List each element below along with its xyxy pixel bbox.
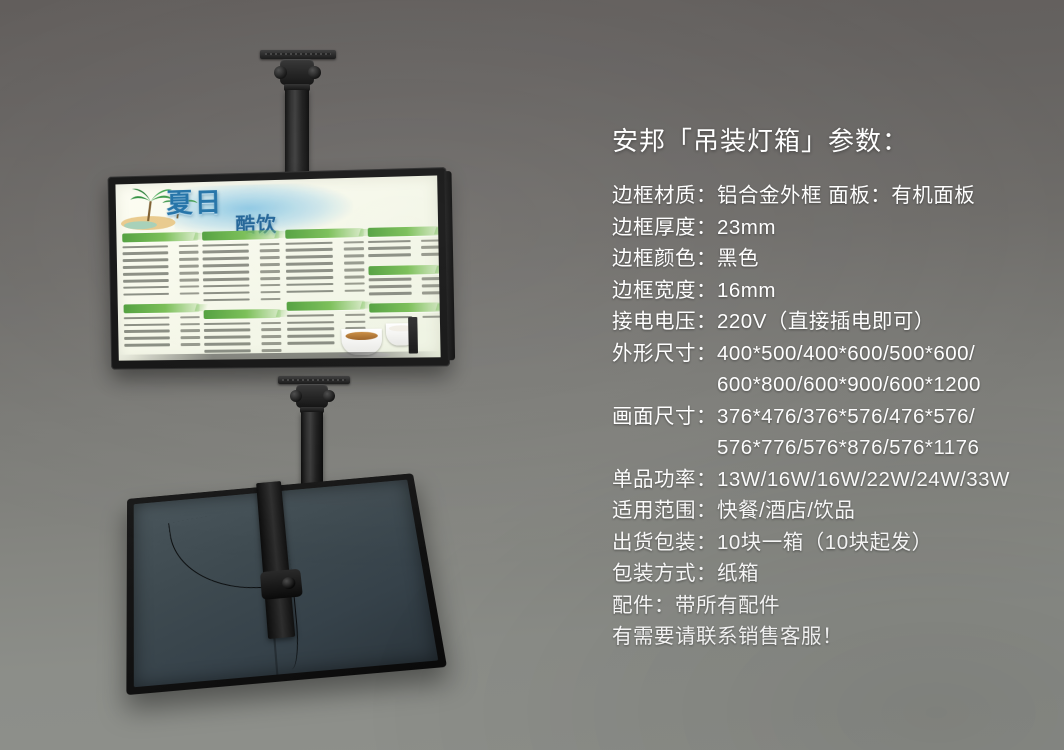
back-panel <box>134 480 439 688</box>
menu-section-header <box>202 230 279 241</box>
adjust-knob-icon <box>323 390 335 402</box>
telescoping-pole-icon <box>285 90 309 176</box>
menu-row <box>286 267 365 274</box>
menu-row <box>203 268 280 275</box>
ceiling-plate-icon <box>278 376 350 384</box>
menu-row <box>286 253 365 260</box>
menu-row <box>123 277 199 284</box>
menu-row <box>286 281 365 288</box>
spec-line-accessories: 配件：带所有配件 <box>612 590 1042 622</box>
menu-row <box>203 262 280 269</box>
menu-row <box>203 296 280 303</box>
menu-row <box>203 282 280 289</box>
swivel-hub-icon <box>260 569 303 600</box>
ceiling-plate-icon <box>260 50 336 59</box>
photo-edge-detail <box>408 317 418 354</box>
spec-line-picture-size-2: 576*776/576*876/576*1176 <box>612 432 1042 464</box>
spec-line-shipping-package: 出货包装：10块一箱（10块起发） <box>612 527 1042 559</box>
menu-row <box>369 290 441 297</box>
menu-board: 夏日 酷饮 <box>115 175 440 360</box>
menu-row <box>123 250 199 257</box>
spec-panel: 安邦「吊装灯箱」参数： 边框材质：铝合金外框 面板：有机面板 边框厚度：23mm… <box>612 124 1042 653</box>
menu-section-header <box>368 226 440 237</box>
spec-line-packing-method: 包装方式：纸箱 <box>612 558 1042 590</box>
menu-row <box>124 321 200 328</box>
spec-line-picture-size: 画面尺寸：376*476/376*576/476*576/ <box>612 401 1042 433</box>
menu-row <box>123 256 199 263</box>
product-photo: 夏日 酷饮 <box>0 0 600 750</box>
menu-row <box>286 274 365 281</box>
spec-line-contact: 有需要请联系销售客服！ <box>612 621 1042 653</box>
adjust-knob-icon <box>290 390 302 402</box>
menu-row <box>368 251 440 258</box>
menu-row <box>124 328 200 335</box>
coffee-beans-image <box>267 302 352 359</box>
menu-lightbox-front: 夏日 酷饮 <box>108 167 450 370</box>
menu-row <box>286 260 365 267</box>
menu-row <box>124 335 200 341</box>
aluminium-frame: 夏日 酷饮 <box>108 167 450 370</box>
menu-row <box>123 263 199 270</box>
menu-section-header <box>124 303 200 313</box>
menu-row <box>203 255 280 262</box>
coffee-photo <box>267 300 441 359</box>
menu-title-main: 夏日 <box>166 187 223 218</box>
spec-line-frame-material: 边框材质：铝合金外框 面板：有机面板 <box>612 180 1042 212</box>
spec-title: 安邦「吊装灯箱」参数： <box>612 124 1042 158</box>
menu-row <box>369 283 441 290</box>
product-spec-image: 夏日 酷饮 <box>0 0 1064 750</box>
spec-line-application: 适用范围：快餐/酒店/饮品 <box>612 495 1042 527</box>
menu-section-header <box>285 228 364 239</box>
ceiling-mount-upper <box>252 50 344 176</box>
menu-row <box>123 291 199 298</box>
menu-column <box>122 232 200 350</box>
menu-section-header <box>368 264 440 274</box>
menu-row <box>369 276 441 283</box>
spec-line-voltage: 接电电压：220V（直接插电即可） <box>612 306 1042 338</box>
spec-line-outer-size-2: 600*800/600*900/600*1200 <box>612 369 1042 401</box>
menu-row <box>286 288 365 295</box>
menu-row <box>368 237 440 244</box>
spec-line-frame-color: 边框颜色：黑色 <box>612 243 1042 275</box>
adjust-knob-icon <box>274 66 287 79</box>
aluminium-frame-rear <box>126 473 447 695</box>
spec-line-power: 单品功率：13W/16W/16W/22W/24W/33W <box>612 464 1042 496</box>
menu-section-header <box>122 232 198 243</box>
menu-row <box>123 270 199 277</box>
menu-row <box>368 244 440 251</box>
lightbox-rear-view <box>126 473 447 695</box>
spec-line-outer-size: 外形尺寸：400*500/400*600/500*600/ <box>612 338 1042 370</box>
menu-row <box>203 289 280 296</box>
menu-row <box>123 284 199 291</box>
spec-line-frame-thickness: 边框厚度：23mm <box>612 212 1042 244</box>
menu-row <box>124 342 200 348</box>
spec-line-frame-width: 边框宽度：16mm <box>612 275 1042 307</box>
menu-row <box>203 275 280 282</box>
adjust-knob-icon <box>308 66 321 79</box>
menu-row <box>124 314 200 321</box>
